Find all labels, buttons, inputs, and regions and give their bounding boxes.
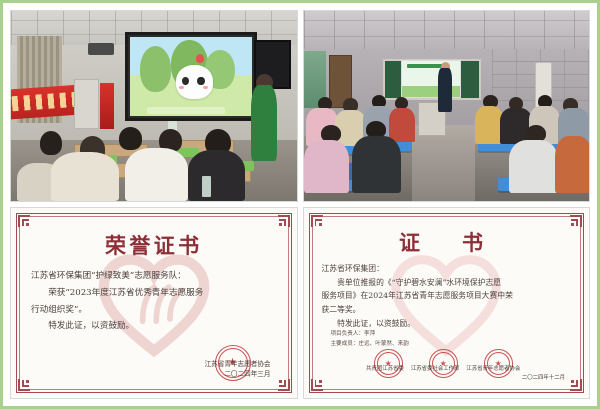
mascot-blush — [203, 86, 208, 89]
banner-text-strip — [12, 92, 78, 112]
project-leader-name: 李萍 — [364, 331, 375, 337]
honor-certificate: 荣誉证书 江苏省环保集团“护绿致美”志愿服务队： 荣获“2023年度江苏省优秀青… — [10, 207, 298, 399]
mascot-blush — [179, 86, 184, 89]
official-seal-icon: ★ — [429, 349, 458, 378]
student-body — [389, 108, 415, 142]
photo-classroom-lecture — [303, 10, 591, 202]
mascot-eye — [197, 77, 204, 86]
certificate-body-line: 荣获“2023年度江苏省优秀青年志愿服务 — [31, 285, 277, 302]
water-bottle — [202, 176, 211, 197]
certificate-body-line: 行动组织奖”。 — [31, 302, 277, 319]
official-seal-icon: ★ — [374, 349, 403, 378]
project-leader-line: 项目负责人：李萍 — [322, 330, 572, 340]
photo-cell-lecture — [303, 10, 591, 202]
student-body — [304, 140, 350, 193]
lecturer — [438, 68, 452, 112]
water-drop-icon — [196, 54, 204, 63]
student-body — [555, 136, 590, 193]
student-body — [51, 152, 120, 201]
student-body — [475, 106, 504, 144]
award-certificate: 证 书 江苏省环保集团： 贵单位推报的《“守护碧水安澜”水环境保护志愿 服务项目… — [303, 207, 591, 399]
certificate-cell-award: 证 书 江苏省环保集团： 贵单位推报的《“守护碧水安澜”水环境保护志愿 服务项目… — [303, 207, 591, 399]
certificate-body: 江苏省环保集团： 贵单位推报的《“守护碧水安澜”水环境保护志愿 服务项目》在20… — [316, 259, 578, 349]
certificate-footer: ★ ★ ★ 共青团江苏省委 江苏省委社会工作部 — [316, 349, 578, 386]
ceiling-grid — [304, 11, 590, 53]
certificate-closing: 特发此证，以资鼓励。 — [322, 317, 572, 331]
certificate-body-line: 服务项目》在2024年江苏省青年志愿服务项目大赛中荣 — [322, 289, 572, 303]
projector-screen — [125, 32, 256, 121]
volunteer-in-green-vest — [251, 85, 277, 161]
photo-classroom-projector — [10, 10, 298, 202]
certificate-body: 江苏省环保集团“护绿致美”志愿服务队： 荣获“2023年度江苏省优秀青年志愿服务… — [23, 262, 285, 335]
red-banner — [10, 84, 83, 119]
certificate-content: 荣誉证书 江苏省环保集团“护绿致美”志愿服务队： 荣获“2023年度江苏省优秀青… — [23, 220, 285, 386]
certificate-date: 二〇二四年三月 — [23, 370, 271, 380]
tree-shape — [140, 46, 172, 92]
certificate-body-line: 获二等奖。 — [322, 303, 572, 317]
screen-image — [130, 37, 251, 116]
student-body — [125, 148, 188, 201]
certificate-issuer: 江苏省委社会工作部 — [411, 365, 460, 373]
official-seal-icon: ★ — [484, 349, 513, 378]
project-members-line: 主要成员：庄远、叶蒙然、来韵 — [322, 340, 572, 350]
cartoon-mascot — [176, 65, 212, 98]
student-head — [119, 127, 142, 150]
certificate-body-line: 贵单位推报的《“守护碧水安澜”水环境保护志愿 — [322, 276, 572, 290]
certificate-issuer: 共青团江苏省委 — [366, 365, 404, 373]
certificate-footer: 江苏省青年志愿者协会 二〇二四年三月 — [23, 360, 285, 386]
student-body — [352, 136, 401, 193]
mascot-eye — [182, 77, 189, 86]
certificate-cell-honor: 荣誉证书 江苏省环保集团“护绿致美”志愿服务队： 荣获“2023年度江苏省优秀青… — [10, 207, 298, 399]
collage-grid: 荣誉证书 江苏省环保集团“护绿致美”志愿服务队： 荣获“2023年度江苏省优秀青… — [6, 6, 594, 403]
center-aisle — [412, 125, 475, 201]
project-leader-label: 项目负责人： — [330, 331, 364, 337]
student-head — [395, 97, 408, 109]
cabinet — [74, 79, 100, 128]
project-members-names: 庄远、叶蒙然、来韵 — [358, 341, 408, 347]
certificate-recipient: 江苏省环保集团： — [322, 262, 572, 276]
certificate-title: 荣誉证书 — [23, 230, 285, 260]
certificate-content: 证 书 江苏省环保集团： 贵单位推报的《“守护碧水安澜”水环境保护志愿 服务项目… — [316, 220, 578, 386]
certificate-title: 证 书 — [316, 227, 578, 257]
certificate-issuer: 江苏省青年志愿者协会 — [466, 365, 520, 373]
chinese-flag — [100, 83, 114, 129]
project-members-label: 主要成员： — [330, 341, 358, 347]
certificate-closing: 特发此证，以资鼓励。 — [31, 318, 277, 335]
projector-device — [88, 43, 114, 54]
student-body — [509, 140, 558, 193]
collage-page: 荣誉证书 江苏省环保集团“护绿致美”志愿服务队： 荣获“2023年度江苏省优秀青… — [0, 0, 600, 409]
photo-cell-projector — [10, 10, 298, 202]
certificate-recipient: 江苏省环保集团“护绿致美”志愿服务队： — [31, 268, 277, 285]
certificate-issuer: 江苏省青年志愿者协会 — [23, 360, 271, 370]
issuer-names: 共青团江苏省委 江苏省委社会工作部 江苏省青年志愿者协会 — [316, 365, 572, 373]
screen-subtitle-bar — [147, 107, 225, 113]
student-head — [40, 131, 63, 156]
student-body — [188, 150, 245, 201]
